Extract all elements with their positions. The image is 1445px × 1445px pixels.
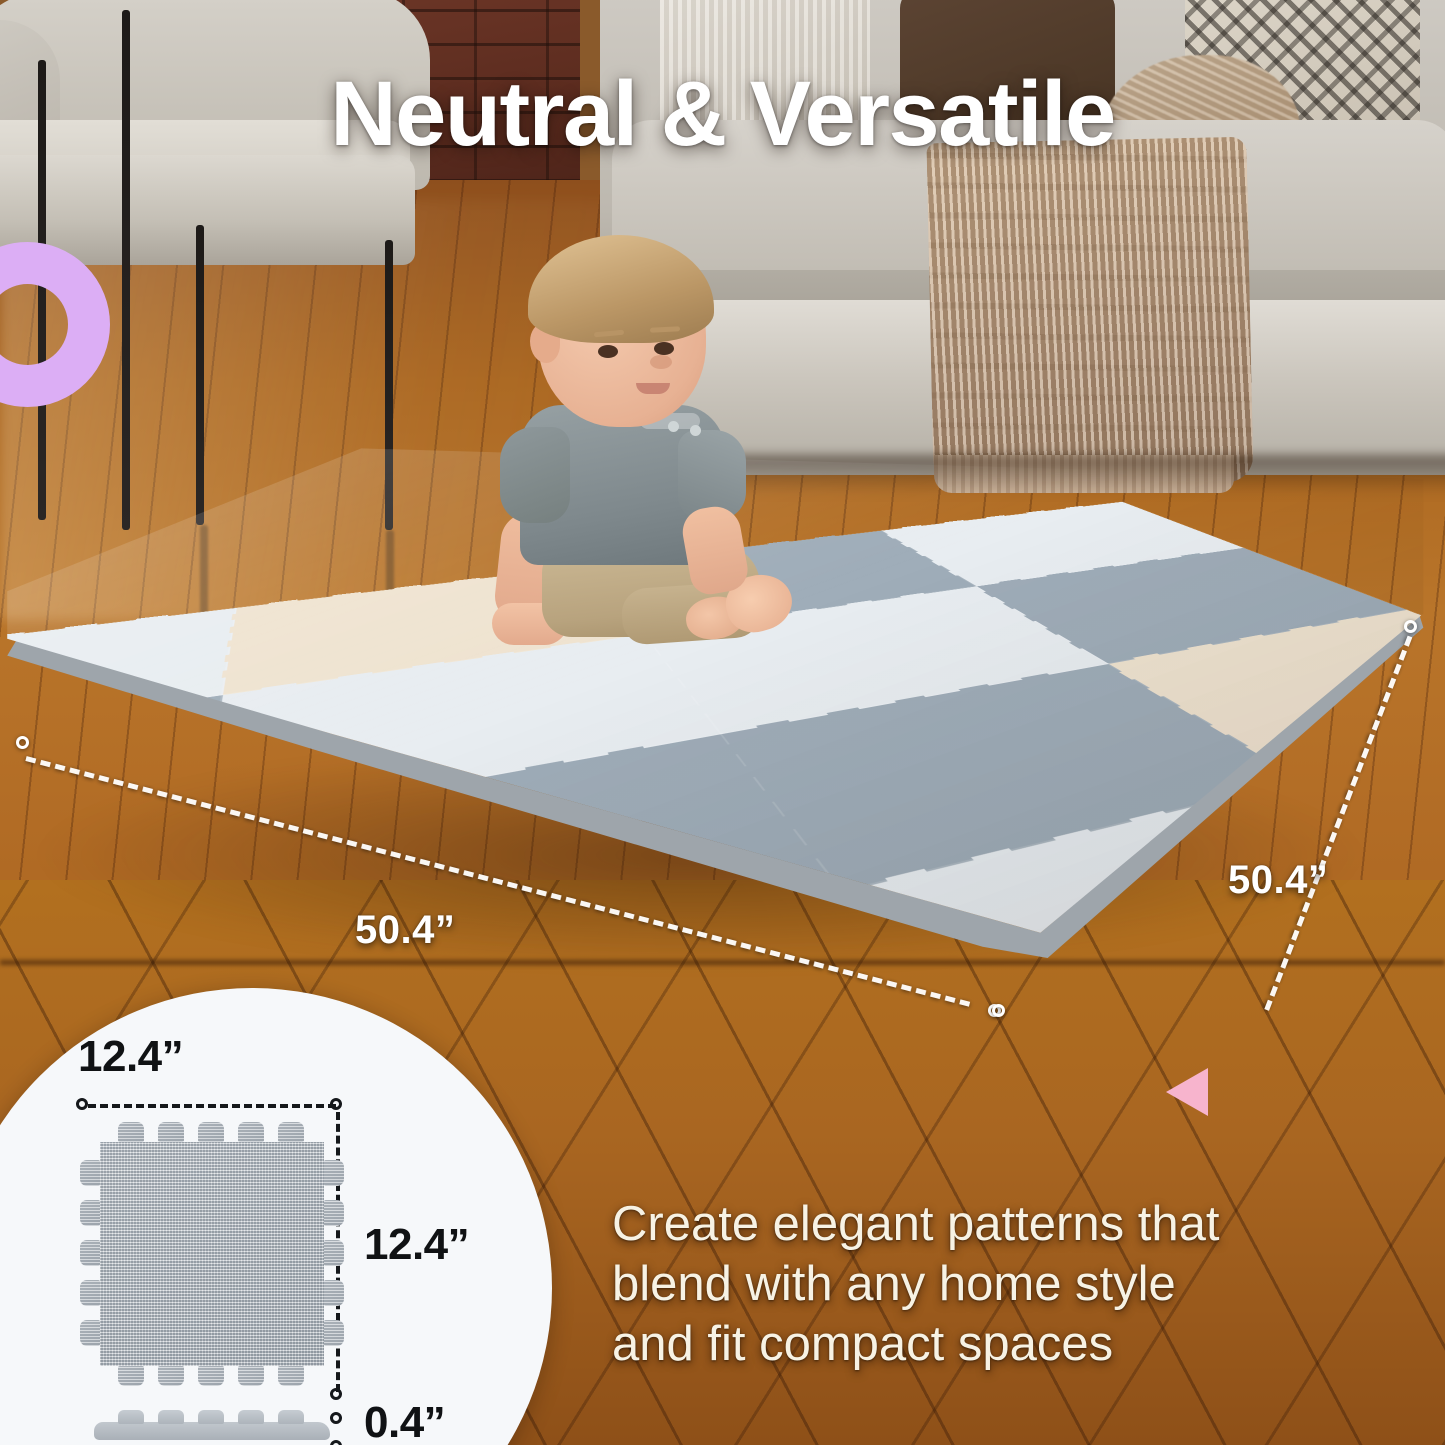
dim-endpoint — [992, 1004, 1005, 1017]
tile-interlock-nub — [80, 1240, 100, 1266]
tile-interlock-nub — [158, 1122, 184, 1142]
tile-interlock-nub — [80, 1200, 100, 1226]
baby-nose — [650, 355, 672, 369]
baby-snap-button — [668, 421, 679, 432]
puzzle-tile-illustration — [82, 1128, 342, 1390]
baby-eye — [598, 345, 618, 358]
tile-interlock-nub — [238, 1366, 264, 1386]
tile-interlock-nub — [80, 1320, 100, 1346]
tile-interlock-nub — [118, 1366, 144, 1386]
mat-depth-label: 50.4” — [1228, 858, 1328, 903]
dim-line-tile-width — [88, 1104, 336, 1108]
tile-body — [100, 1142, 324, 1366]
tile-spec-inset: 12.4” 12.4” 0.4” — [0, 988, 552, 1445]
dim-endpoint — [16, 736, 29, 749]
tile-interlock-nub — [324, 1240, 344, 1266]
tile-interlock-nub — [118, 1122, 144, 1142]
tile-thickness-label: 0.4” — [364, 1398, 445, 1445]
tile-side-profile — [82, 1408, 342, 1442]
tile-width-label: 12.4” — [78, 1032, 183, 1082]
tile-interlock-nub — [324, 1160, 344, 1186]
tile-interlock-nub — [324, 1280, 344, 1306]
tile-interlock-nub — [278, 1122, 304, 1142]
baby-eye — [654, 342, 674, 355]
baby-hair — [528, 235, 714, 343]
tile-side-nub — [158, 1410, 184, 1424]
tile-height-label: 12.4” — [364, 1220, 469, 1270]
dim-endpoint — [1404, 620, 1417, 633]
headline-title: Neutral & Versatile — [0, 62, 1445, 167]
baby-sleeve — [500, 427, 570, 523]
tile-interlock-nub — [278, 1366, 304, 1386]
mat-width-label: 50.4” — [355, 908, 455, 953]
tile-interlock-nub — [324, 1200, 344, 1226]
product-marketing-image: 50.4” 50.4” Neutral & Versatile Create e… — [0, 0, 1445, 1445]
caption-line-2: blend with any home style — [612, 1255, 1412, 1315]
decorative-triangle-icon — [1166, 1068, 1208, 1116]
baby-snap-button — [690, 425, 701, 436]
baby-figure — [490, 245, 820, 645]
tile-interlock-nub — [198, 1366, 224, 1386]
caption-line-3: and fit compact spaces — [612, 1315, 1412, 1375]
tile-interlock-nub — [324, 1320, 344, 1346]
throw-blanket — [926, 137, 1253, 489]
tile-side-bar — [94, 1422, 330, 1440]
tile-side-nub — [238, 1410, 264, 1424]
tile-interlock-nub — [158, 1366, 184, 1386]
tile-interlock-nub — [80, 1160, 100, 1186]
tile-interlock-nub — [198, 1122, 224, 1142]
caption-line-1: Create elegant patterns that — [612, 1195, 1412, 1255]
dim-endpoint — [76, 1098, 88, 1110]
armchair-seat — [0, 155, 415, 265]
tile-interlock-nub — [238, 1122, 264, 1142]
caption-block: Create elegant patterns that blend with … — [612, 1195, 1412, 1374]
tile-side-nub — [278, 1410, 304, 1424]
tile-interlock-nub — [80, 1280, 100, 1306]
tile-side-nub — [198, 1410, 224, 1424]
dim-endpoint — [330, 1098, 342, 1110]
tile-side-nub — [118, 1410, 144, 1424]
